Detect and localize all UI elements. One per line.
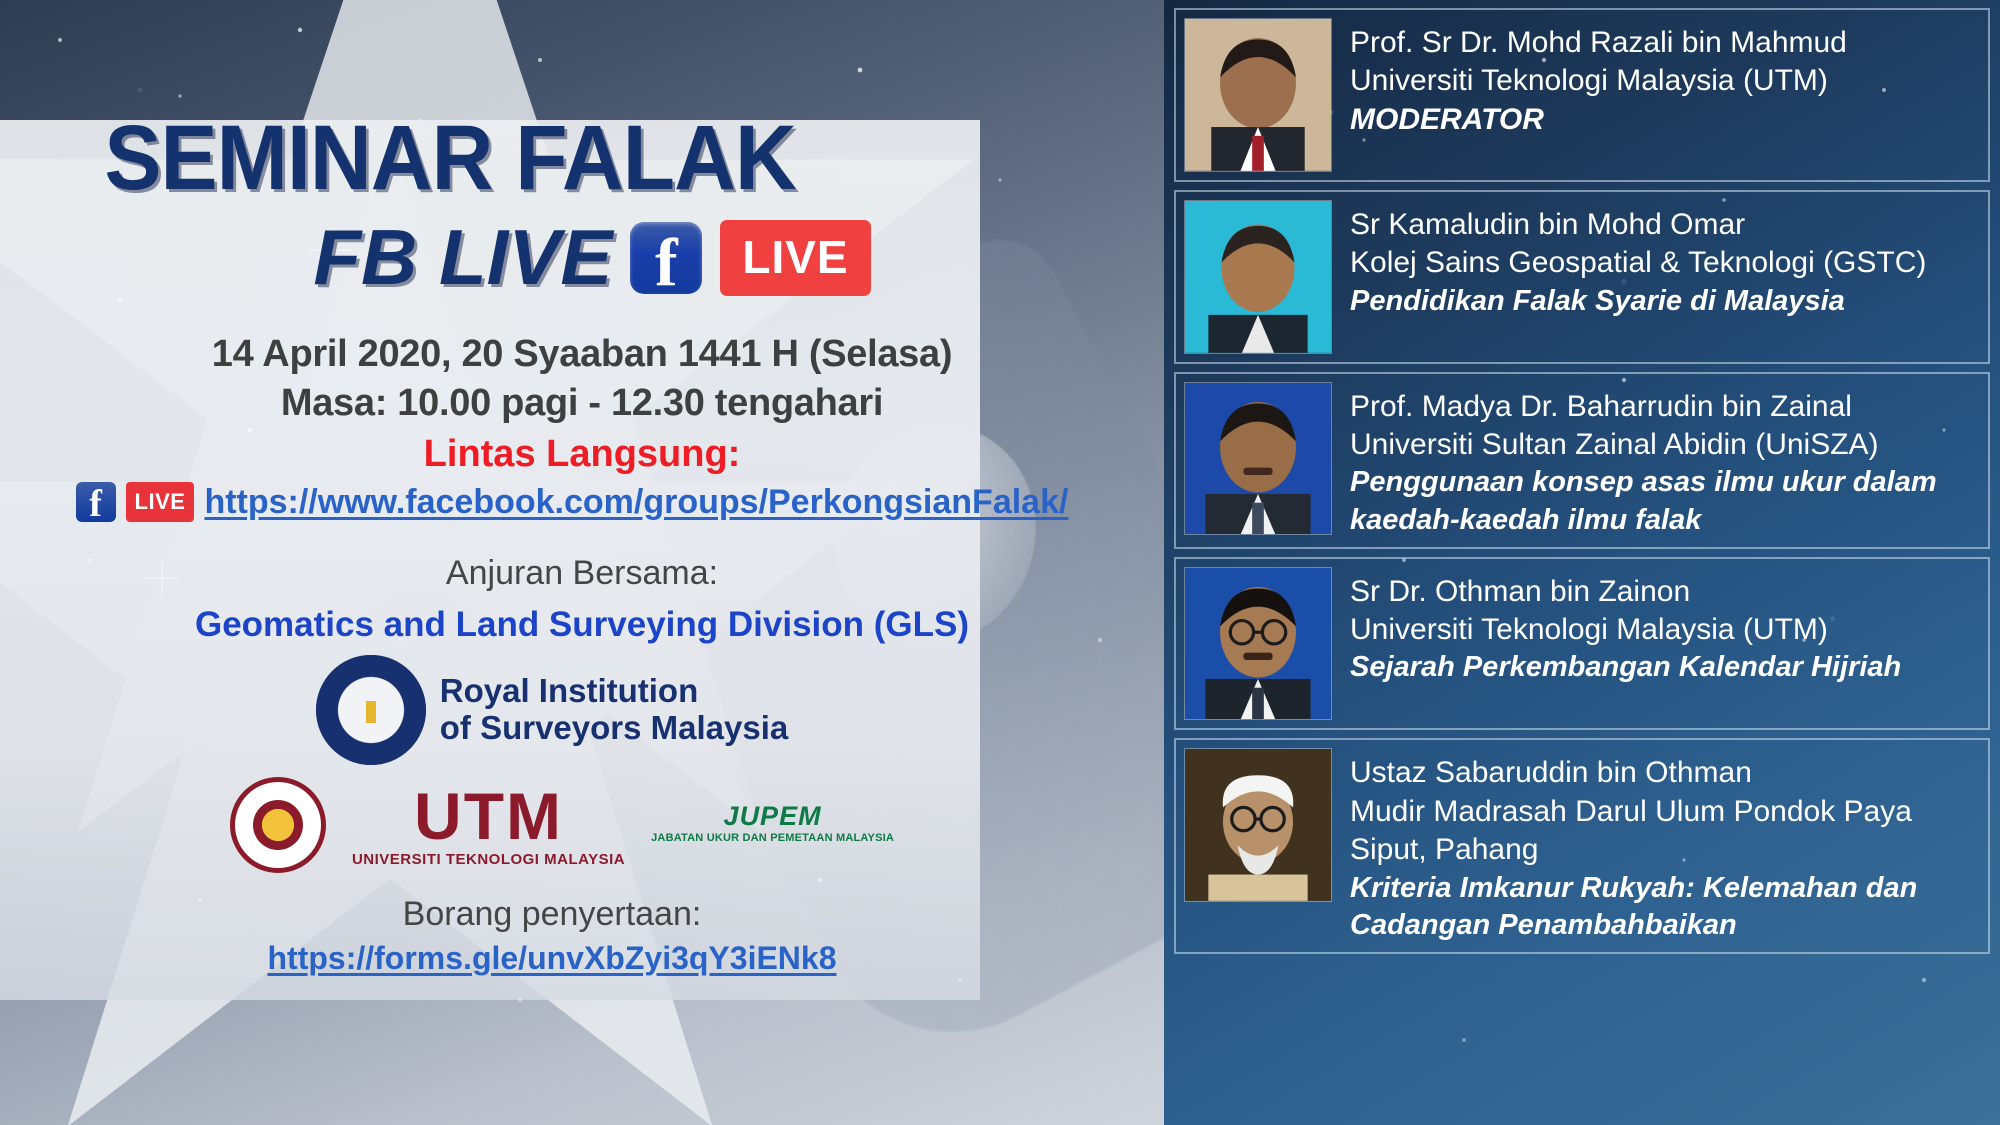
portrait-icon: [1185, 383, 1331, 535]
speaker-name: Prof. Madya Dr. Baharrudin bin Zainal: [1350, 388, 1978, 426]
rism-line-1: Royal Institution: [440, 673, 789, 710]
speaker-org: Universiti Sultan Zainal Abidin (UniSZA): [1350, 426, 1978, 464]
utm-subtitle: UNIVERSITI TEKNOLOGI MALAYSIA: [352, 851, 625, 868]
utm-wordmark: UTM: [352, 783, 625, 849]
speaker-info: Sr Dr. Othman bin Zainon Universiti Tekn…: [1350, 567, 1901, 687]
fb-live-text: FB LIVE: [313, 212, 612, 303]
speaker-photo-mohd-razali: [1184, 18, 1332, 172]
speaker-photo-kamaludin: [1184, 200, 1332, 354]
speakers-panel: Prof. Sr Dr. Mohd Razali bin Mahmud Univ…: [1164, 0, 2000, 1125]
speaker-org: Universiti Teknologi Malaysia (UTM): [1350, 62, 1847, 100]
rism-seal-icon: [316, 655, 426, 765]
organizer-label: Anjuran Bersama:: [30, 554, 1134, 593]
speaker-card: Sr Dr. Othman bin Zainon Universiti Tekn…: [1174, 557, 1990, 731]
event-date: 14 April 2020, 20 Syaaban 1441 H (Selasa…: [30, 333, 1134, 376]
live-badge-small: LIVE: [126, 482, 195, 522]
event-time: Masa: 10.00 pagi - 12.30 tengahari: [30, 382, 1134, 425]
speaker-info: Ustaz Sabaruddin bin Othman Mudir Madras…: [1350, 748, 1978, 943]
speaker-name: Sr Dr. Othman bin Zainon: [1350, 573, 1901, 611]
speaker-card: Ustaz Sabaruddin bin Othman Mudir Madras…: [1174, 738, 1990, 953]
rism-logo: Royal Institution of Surveyors Malaysia: [30, 655, 1134, 765]
speaker-org: Universiti Teknologi Malaysia (UTM): [1350, 611, 1901, 649]
speaker-org: Mudir Madrasah Darul Ulum Pondok Paya Si…: [1350, 793, 1978, 870]
speaker-card: Sr Kamaludin bin Mohd Omar Kolej Sains G…: [1174, 190, 1990, 364]
portrait-icon: [1185, 749, 1331, 901]
page-title: SEMINAR FALAK: [30, 112, 1057, 204]
jupem-wordmark: JUPEM: [651, 801, 894, 832]
form-label: Borang penyertaan:: [30, 895, 1134, 934]
jupem-subtitle: JABATAN UKUR DAN PEMETAAN MALAYSIA: [651, 832, 894, 844]
speaker-name: Prof. Sr Dr. Mohd Razali bin Mahmud: [1350, 24, 1847, 62]
live-badge: LIVE: [720, 220, 870, 296]
facebook-icon-small: f: [76, 482, 116, 522]
portrait-icon: [1185, 19, 1331, 171]
speaker-topic: Sejarah Perkembangan Kalendar Hijriah: [1350, 649, 1901, 686]
partner-logos: UTM UNIVERSITI TEKNOLOGI MALAYSIA JUPEM …: [30, 777, 1134, 873]
speaker-name: Ustaz Sabaruddin bin Othman: [1350, 754, 1978, 792]
rism-line-2: of Surveyors Malaysia: [440, 710, 789, 747]
speaker-info: Sr Kamaludin bin Mohd Omar Kolej Sains G…: [1350, 200, 1926, 320]
speaker-org: Kolej Sains Geospatial & Teknologi (GSTC…: [1350, 244, 1926, 282]
facebook-icon: f: [630, 222, 702, 294]
speaker-topic: Kriteria Imkanur Rukyah: Kelemahan dan C…: [1350, 870, 1978, 944]
utm-logo: UTM UNIVERSITI TEKNOLOGI MALAYSIA: [352, 783, 625, 868]
speaker-name: Sr Kamaludin bin Mohd Omar: [1350, 206, 1926, 244]
utm-seal-icon: [230, 777, 326, 873]
left-content: SEMINAR FALAK FB LIVE f LIVE 14 April 20…: [0, 112, 1164, 977]
stream-label: Lintas Langsung:: [30, 433, 1134, 476]
left-info-panel: SEMINAR FALAK FB LIVE f LIVE 14 April 20…: [0, 0, 1164, 1125]
speaker-info: Prof. Sr Dr. Mohd Razali bin Mahmud Univ…: [1350, 18, 1847, 139]
speaker-card: Prof. Sr Dr. Mohd Razali bin Mahmud Univ…: [1174, 8, 1990, 182]
portrait-icon: [1185, 568, 1331, 720]
jupem-logo: JUPEM JABATAN UKUR DAN PEMETAAN MALAYSIA: [651, 807, 894, 844]
speaker-card: Prof. Madya Dr. Baharrudin bin Zainal Un…: [1174, 372, 1990, 549]
speaker-info: Prof. Madya Dr. Baharrudin bin Zainal Un…: [1350, 382, 1978, 539]
form-url-link[interactable]: https://forms.gle/unvXbZyi3qY3iENk8: [30, 940, 1134, 977]
speaker-role: MODERATOR: [1350, 101, 1847, 139]
speaker-photo-othman: [1184, 567, 1332, 721]
seminar-poster: SEMINAR FALAK FB LIVE f LIVE 14 April 20…: [0, 0, 2000, 1125]
speaker-topic: Pendidikan Falak Syarie di Malaysia: [1350, 283, 1926, 320]
fb-live-header: FB LIVE f LIVE: [30, 212, 1134, 303]
portrait-icon: [1185, 201, 1331, 353]
organizer-division: Geomatics and Land Surveying Division (G…: [30, 605, 1134, 645]
speaker-photo-baharrudin: [1184, 382, 1332, 536]
stream-link-row[interactable]: f LIVE https://www.facebook.com/groups/P…: [30, 482, 1134, 522]
stream-url-link[interactable]: https://www.facebook.com/groups/Perkongs…: [204, 483, 1068, 522]
rism-logo-text: Royal Institution of Surveyors Malaysia: [440, 673, 789, 747]
speaker-photo-sabaruddin: [1184, 748, 1332, 902]
speaker-topic: Penggunaan konsep asas ilmu ukur dalam k…: [1350, 464, 1978, 538]
